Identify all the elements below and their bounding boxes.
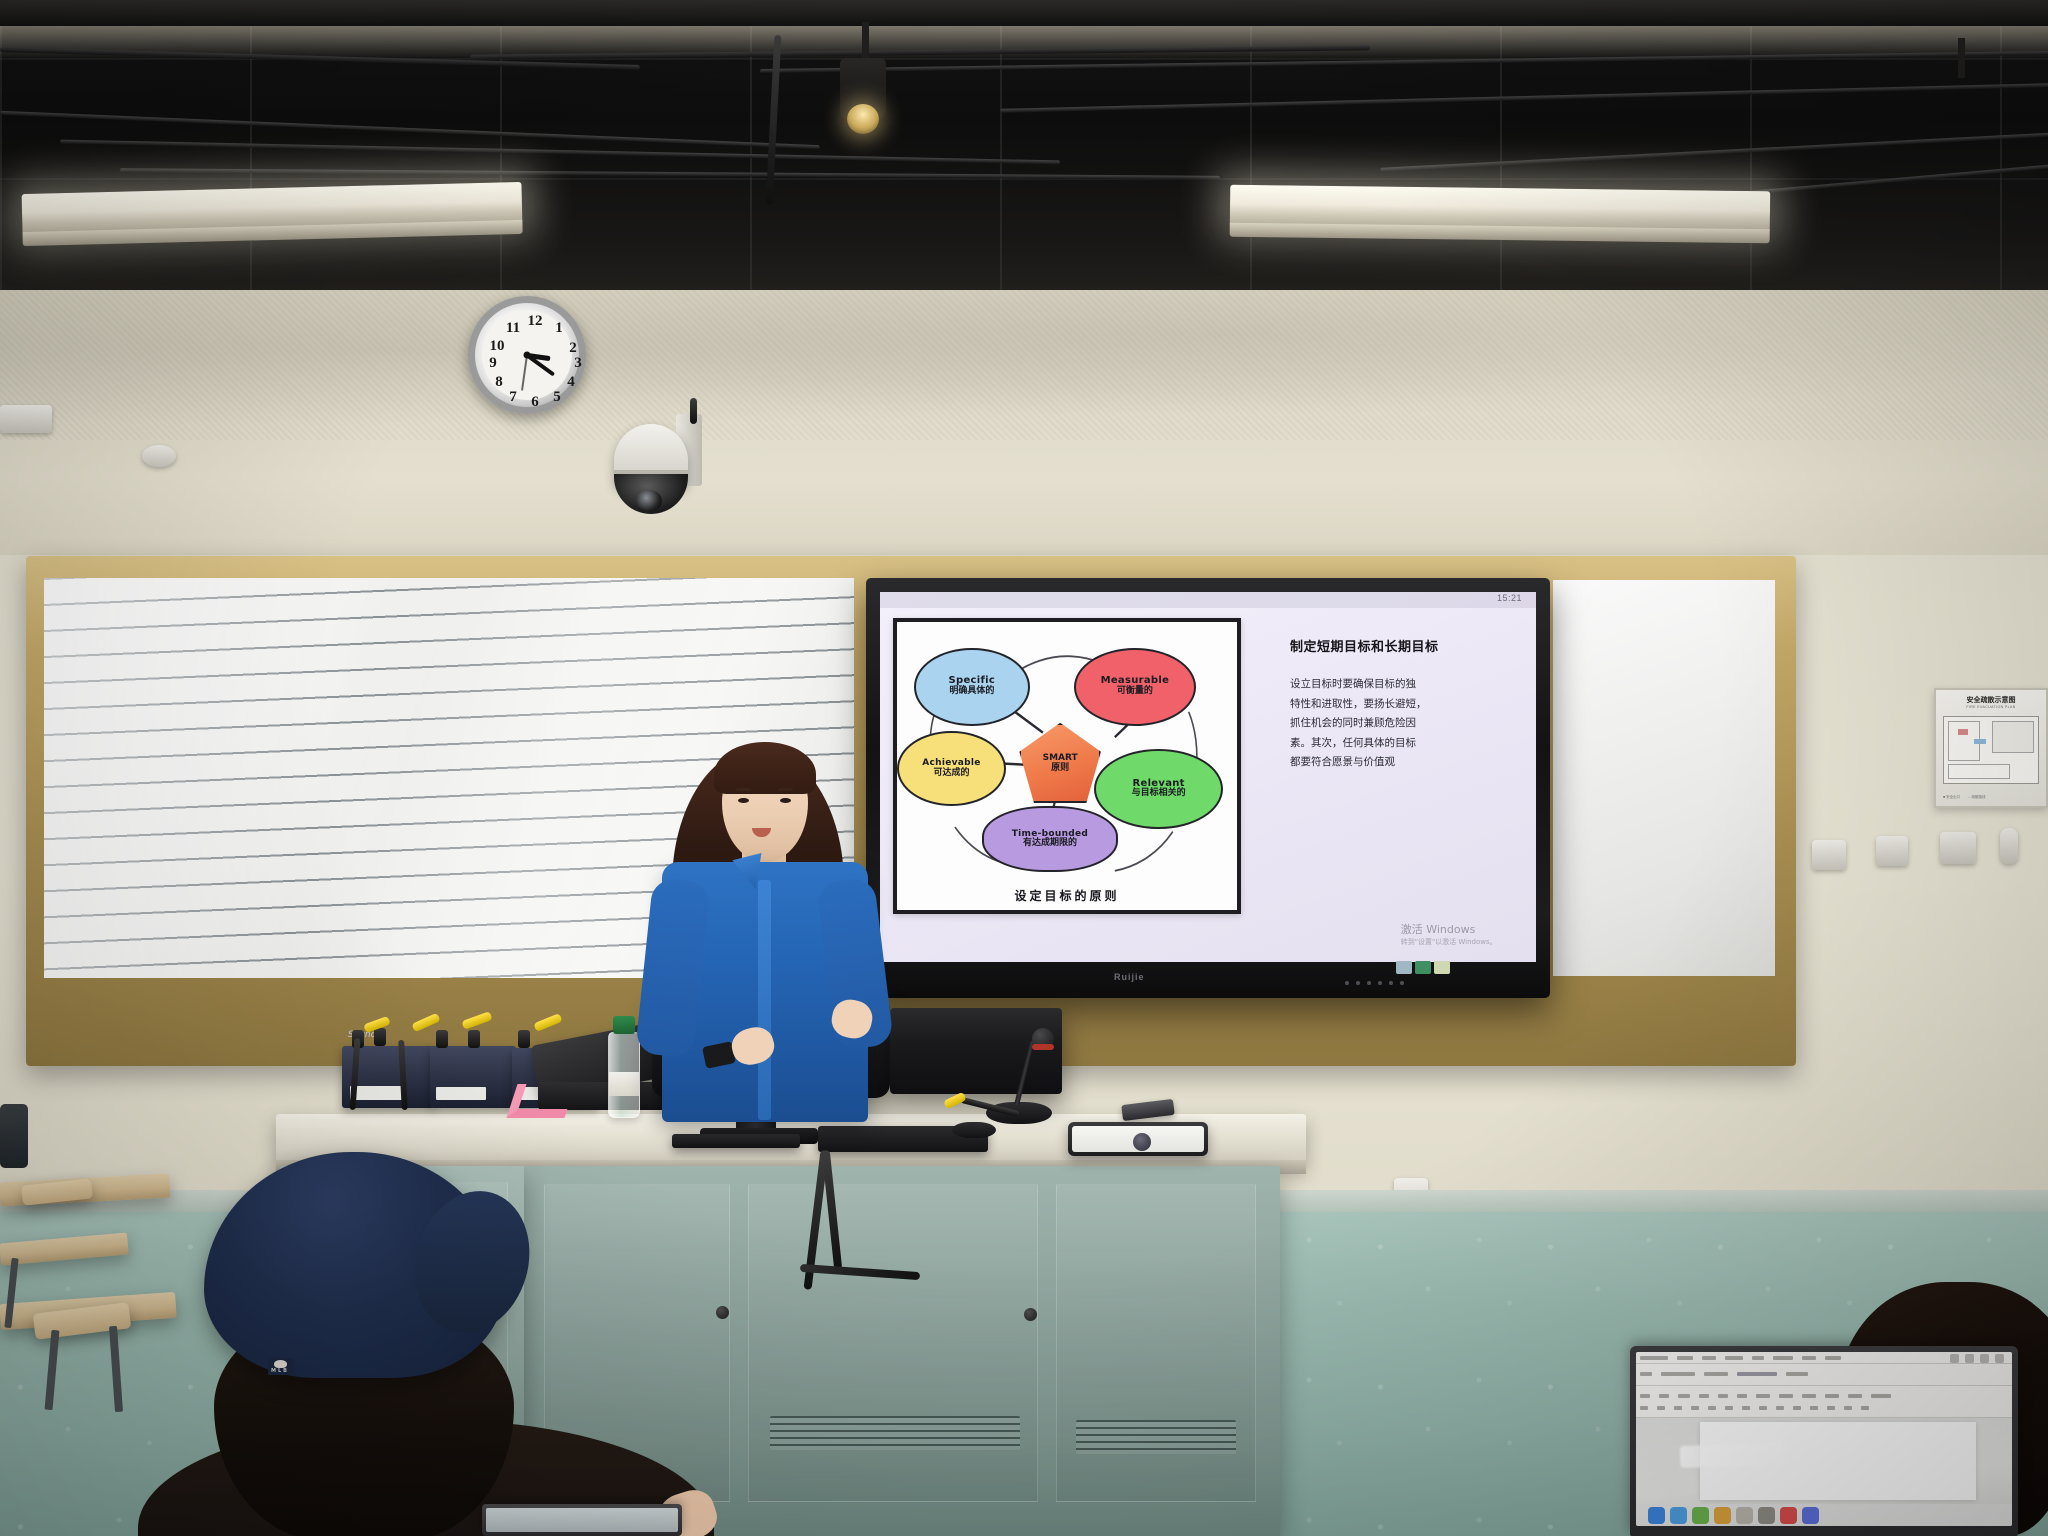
tablet-screen[interactable] xyxy=(1072,1126,1204,1152)
tablet-camera-dot xyxy=(1133,1133,1151,1151)
laptop-screen[interactable] xyxy=(1636,1352,2012,1526)
clock-numeral: 8 xyxy=(490,374,508,391)
presentation-slide: Specific 明确具体的 Measurable 可衡量的 Achievabl… xyxy=(880,592,1536,962)
pentagon-line1: SMART xyxy=(1043,753,1078,763)
laptop-dock[interactable] xyxy=(1636,1504,2012,1526)
xlr-connector xyxy=(374,1028,386,1046)
teacher-brow xyxy=(778,788,793,791)
rack-label xyxy=(350,1086,406,1100)
safety-sign-title-en: FIRE EVACUATION PLAN xyxy=(1936,705,2046,709)
clock-face: 12 1 2 3 4 5 6 7 8 9 10 11 xyxy=(482,310,572,400)
wall-clock: 12 1 2 3 4 5 6 7 8 9 10 11 xyxy=(468,296,586,414)
rack-label xyxy=(436,1087,486,1100)
laptop-toolbar[interactable] xyxy=(1636,1364,2012,1386)
xlr-connector xyxy=(518,1030,530,1048)
clock-numeral: 6 xyxy=(526,394,544,411)
slide-body-line: 特性和进取性，要扬长避短， xyxy=(1290,695,1520,714)
windows-activation-watermark: 激活 Windows 转到"设置"以激活 Windows。 xyxy=(1401,921,1497,947)
ceiling-duct xyxy=(0,0,2048,26)
watermark-line2: 转到"设置"以激活 Windows。 xyxy=(1401,937,1497,947)
teacher-brow xyxy=(736,788,751,791)
smart-diagram: Specific 明确具体的 Measurable 可衡量的 Achievabl… xyxy=(893,618,1241,914)
slide-text-block: 制定短期目标和长期目标 设立目标时要确保目标的独 特性和进取性，要扬长避短， 抓… xyxy=(1290,636,1520,772)
pink-phone-stand[interactable] xyxy=(506,1084,575,1118)
presenter-tablet[interactable] xyxy=(1068,1122,1208,1156)
cabinet-door-mid[interactable] xyxy=(748,1184,1038,1502)
cap-brand-text: MLB xyxy=(271,1368,289,1374)
laptop-ribbon-row2[interactable] xyxy=(1640,1406,1869,1410)
smart-bubble-achievable: Achievable 可达成的 xyxy=(897,731,1006,806)
teacher-eye xyxy=(780,798,791,803)
display-indicator-badges[interactable] xyxy=(1396,961,1450,974)
clock-numeral: 7 xyxy=(504,389,522,406)
upper-wall xyxy=(0,290,2048,560)
clock-numeral: 12 xyxy=(526,313,544,330)
wall-motion-sensor xyxy=(2000,828,2018,864)
slide-body-line: 都要符合愿景与价值观 xyxy=(1290,753,1520,772)
clock-numeral: 9 xyxy=(484,355,502,372)
wall-sensor-dome xyxy=(142,445,176,467)
fixture-arm xyxy=(1958,38,1965,78)
ceiling-spotlight xyxy=(840,58,886,120)
student-tablet-screen[interactable] xyxy=(486,1508,678,1532)
xlr-connector xyxy=(436,1030,448,1048)
wall-sensor-left xyxy=(0,405,52,433)
watermark-line1: 激活 Windows xyxy=(1401,921,1497,937)
wall-plate-1[interactable] xyxy=(1812,840,1846,870)
laptop-menubar-icons[interactable] xyxy=(1950,1354,2004,1363)
diagram-border: Specific 明确具体的 Measurable 可衡量的 Achievabl… xyxy=(893,618,1241,914)
bottle-cap xyxy=(613,1016,635,1034)
safety-evacuation-plan: 安全疏散示意图 FIRE EVACUATION PLAN ■ 安全出口 → 疏散… xyxy=(1934,688,2048,808)
teacher-shirt-placket xyxy=(758,880,771,1120)
clock-numeral: 10 xyxy=(488,338,506,355)
board-right-panel xyxy=(1553,580,1775,976)
wall-plate-2[interactable] xyxy=(1876,836,1908,866)
slide-body-line: 设立目标时要确保目标的独 xyxy=(1290,675,1520,694)
display-led-row xyxy=(1345,981,1404,985)
cabinet-lock-right[interactable] xyxy=(1024,1308,1037,1321)
ceiling xyxy=(0,0,2048,300)
clock-numeral: 5 xyxy=(548,389,566,406)
camera-lens xyxy=(636,490,662,512)
laptop-menu-items[interactable] xyxy=(1640,1356,1841,1360)
pentagon-line2: 原则 xyxy=(1051,763,1069,773)
clock-center-pin xyxy=(524,352,531,359)
laptop-ribbon-row1[interactable] xyxy=(1640,1394,1891,1398)
camera-cable xyxy=(690,398,697,424)
cabinet-door-right[interactable] xyxy=(1056,1184,1256,1502)
slide-body-line: 抓住机会的同时兼顾危险因 xyxy=(1290,714,1520,733)
macbook-laptop[interactable] xyxy=(1630,1346,2018,1536)
secondary-monitor xyxy=(890,1008,1062,1094)
student-tablet[interactable] xyxy=(482,1504,682,1536)
slide-body: 设立目标时要确保目标的独 特性和进取性，要扬长避短， 抓住机会的同时兼顾危险因 … xyxy=(1290,675,1520,772)
bubble-cn-label: 有达成期限的 xyxy=(1023,839,1077,849)
slide-body-line: 素。其次，任何具体的目标 xyxy=(1290,734,1520,753)
laptop-screen-glare xyxy=(1680,1442,1801,1468)
cabinet-lock-left[interactable] xyxy=(716,1306,729,1319)
bottle-label xyxy=(609,1072,639,1096)
microphone-ring xyxy=(1032,1044,1054,1050)
safety-sign-title-cn: 安全疏散示意图 xyxy=(1936,695,2046,705)
clock-numeral: 1 xyxy=(550,320,568,337)
cabinet-vent-mid xyxy=(770,1416,1020,1450)
clock-second-hand xyxy=(521,355,528,391)
xlr-connector xyxy=(468,1030,480,1048)
laptop-toolbar-items[interactable] xyxy=(1640,1372,1808,1376)
slide-title: 制定短期目标和长期目标 xyxy=(1290,636,1520,655)
bubble-cn-label: 明确具体的 xyxy=(949,687,994,697)
wall-texture xyxy=(0,290,2048,440)
safety-sign-legend: ■ 安全出口 → 疏散路线 xyxy=(1943,795,1986,800)
smart-bubble-relevant: Relevant 与目标相关的 xyxy=(1094,749,1223,830)
laptop-ribbon[interactable] xyxy=(1636,1386,2012,1418)
ceiling-light-right xyxy=(1230,185,1770,234)
mlb-logo-icon: MLB xyxy=(268,1358,294,1375)
display-bezel-logo: Ruijie xyxy=(1114,972,1145,982)
chair-back-rest xyxy=(0,1104,28,1168)
interactive-display[interactable]: 15:21 xyxy=(866,578,1550,998)
wall-plate-3[interactable] xyxy=(1940,832,1976,864)
teacher-eye xyxy=(738,798,749,803)
bubble-cn-label: 与目标相关的 xyxy=(1132,789,1186,799)
microphone-base-secondary xyxy=(952,1122,996,1138)
classroom-scene: 12 1 2 3 4 5 6 7 8 9 10 11 xyxy=(0,0,2048,1536)
cabinet-vent-right xyxy=(1076,1420,1236,1454)
display-screen[interactable]: 15:21 xyxy=(880,592,1536,962)
clock-numeral: 11 xyxy=(504,320,522,337)
smart-bubble-timebounded: Time-bounded 有达成期限的 xyxy=(982,806,1118,872)
keyboard[interactable] xyxy=(672,1134,800,1148)
laptop-menubar[interactable] xyxy=(1636,1352,2012,1364)
bubble-cn-label: 可达成的 xyxy=(933,769,969,779)
bubble-cn-label: 可衡量的 xyxy=(1117,687,1153,697)
diagram-caption: 设定目标的原则 xyxy=(897,887,1237,904)
audio-rack-unit-2 xyxy=(430,1046,516,1108)
smart-bubble-specific: Specific 明确具体的 xyxy=(914,648,1029,726)
safety-sign-floorplan xyxy=(1943,716,2039,784)
clock-numeral: 3 xyxy=(569,355,587,372)
smart-bubble-measurable: Measurable 可衡量的 xyxy=(1074,648,1196,726)
